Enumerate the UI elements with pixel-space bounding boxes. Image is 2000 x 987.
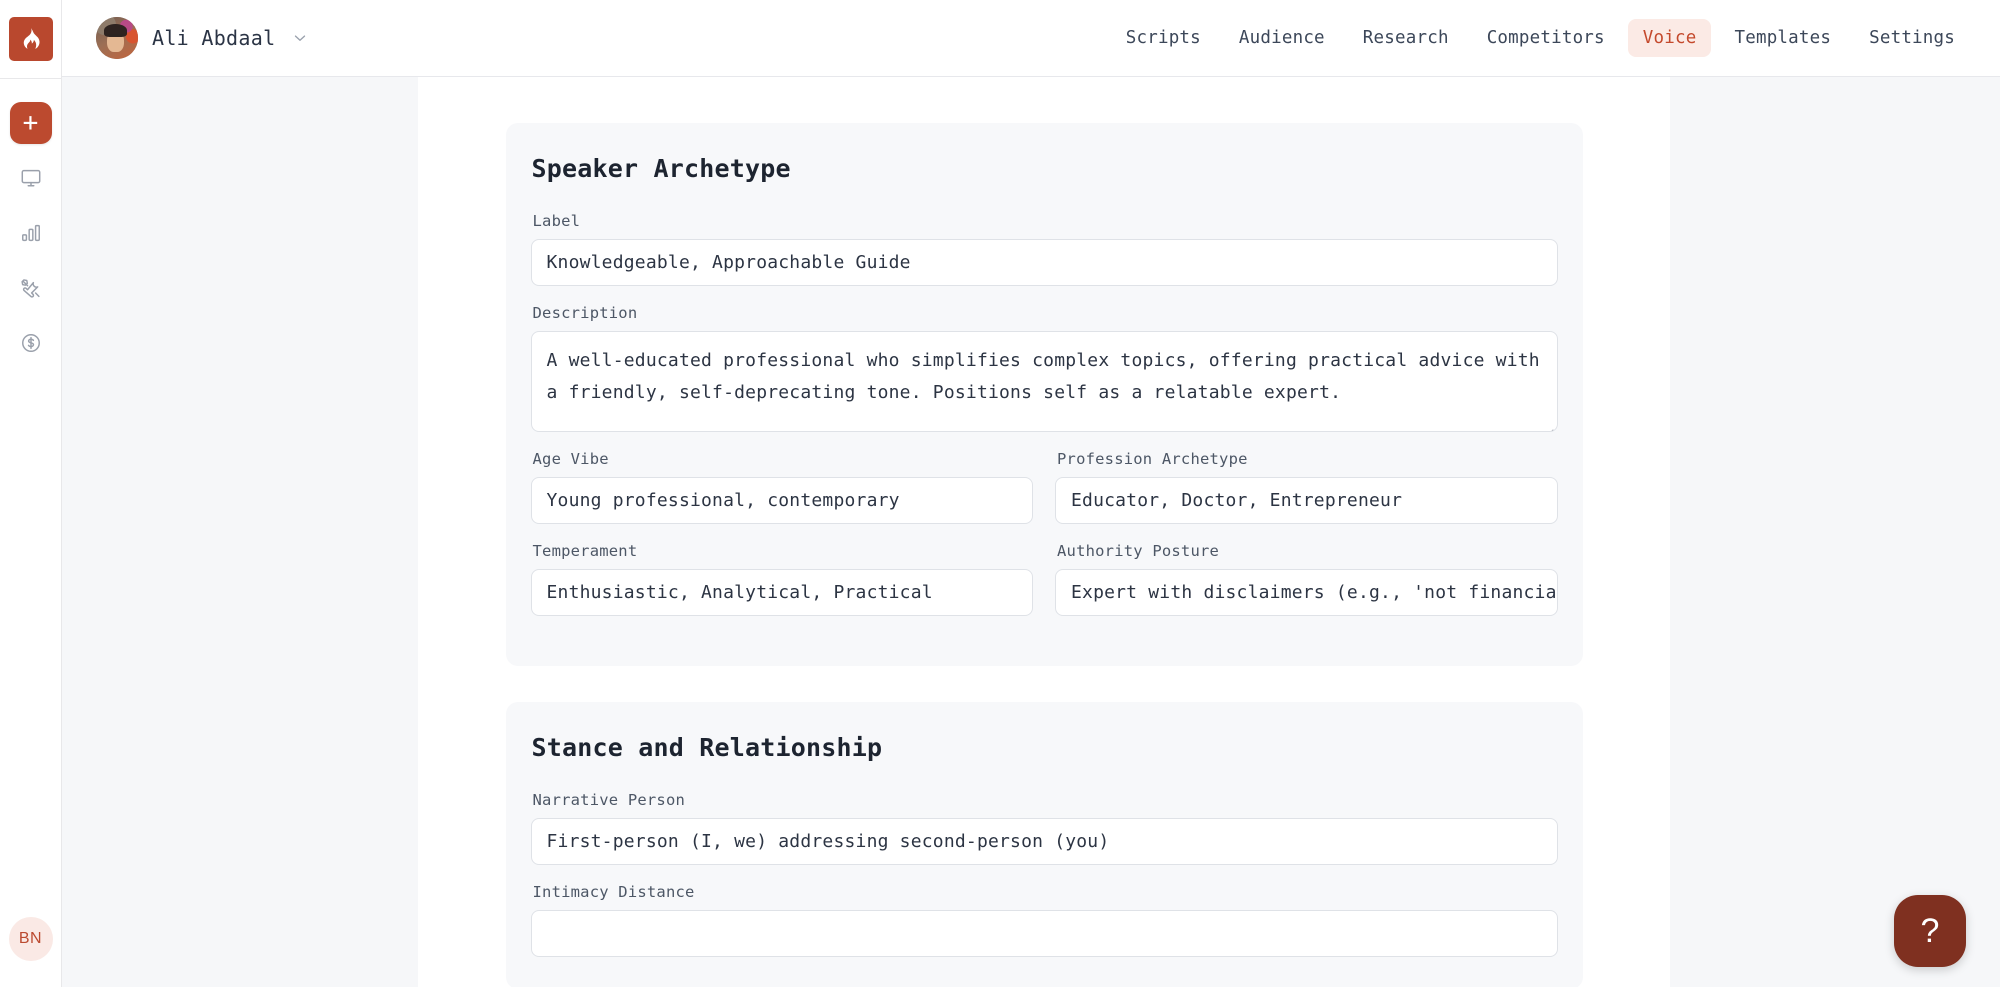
field-label-label: Label [531,212,1558,230]
field-narrative-person: Narrative Person First-person (I, we) ad… [531,791,1558,865]
narrative-person-input[interactable]: First-person (I, we) addressing second-p… [531,818,1558,865]
card-title-speaker-archetype: Speaker Archetype [531,154,1558,183]
rail-item-billing[interactable] [10,322,52,364]
workspace-switcher[interactable]: Ali Abdaal [96,17,309,59]
field-label-intimacy-distance: Intimacy Distance [531,883,1558,901]
field-label-description: Description [531,304,1558,322]
main-column: Ali Abdaal Scripts Audience Research Com… [62,0,2000,987]
workspace-name: Ali Abdaal [152,26,275,50]
field-age-vibe: Age Vibe Young professional, contemporar… [531,450,1034,524]
temperament-input[interactable]: Enthusiastic, Analytical, Practical [531,569,1034,616]
nav-item-scripts[interactable]: Scripts [1111,19,1216,57]
description-textarea-text: A well-educated professional who simplif… [547,350,1540,403]
rail-divider [0,78,61,79]
field-intimacy-distance: Intimacy Distance [531,883,1558,957]
voice-form-scroll[interactable]: Speaker Archetype Label Knowledgeable, A… [418,77,1670,987]
left-rail: + [0,0,62,987]
age-vibe-input[interactable]: Young professional, contemporary [531,477,1034,524]
help-button[interactable]: ? [1894,895,1966,967]
tools-icon [20,277,42,299]
intimacy-distance-input[interactable] [531,910,1558,957]
card-speaker-archetype: Speaker Archetype Label Knowledgeable, A… [506,123,1583,666]
label-input[interactable]: Knowledgeable, Approachable Guide [531,239,1558,286]
authority-posture-input[interactable]: Expert with disclaimers (e.g., 'not fina… [1055,569,1558,616]
monitor-icon [20,167,42,189]
user-avatar-initials[interactable]: BN [9,917,53,961]
workspace-avatar [96,17,138,59]
card-title-stance-and-relationship: Stance and Relationship [531,733,1558,762]
field-label-profession-archetype: Profession Archetype [1055,450,1558,468]
rail-item-tools[interactable] [10,267,52,309]
nav-item-research[interactable]: Research [1348,19,1464,57]
nav-item-audience[interactable]: Audience [1224,19,1340,57]
field-profession-archetype: Profession Archetype Educator, Doctor, E… [1055,450,1558,524]
nav-item-templates[interactable]: Templates [1719,19,1846,57]
row-age-profession: Age Vibe Young professional, contemporar… [531,450,1558,524]
field-label-age-vibe: Age Vibe [531,450,1034,468]
rail-item-analytics[interactable] [10,212,52,254]
field-label-temperament: Temperament [531,542,1034,560]
field-label: Label Knowledgeable, Approachable Guide [531,212,1558,286]
resize-handle-icon[interactable] [1542,417,1554,429]
top-header: Ali Abdaal Scripts Audience Research Com… [62,0,2000,77]
dollar-circle-icon [20,332,42,354]
field-authority-posture: Authority Posture Expert with disclaimer… [1055,542,1558,616]
rail-item-monitor[interactable] [10,157,52,199]
field-temperament: Temperament Enthusiastic, Analytical, Pr… [531,542,1034,616]
row-temperament-authority: Temperament Enthusiastic, Analytical, Pr… [531,542,1558,616]
nav-item-competitors[interactable]: Competitors [1472,19,1620,57]
new-item-button[interactable]: + [10,102,52,144]
page-canvas: Speaker Archetype Label Knowledgeable, A… [418,77,1670,987]
description-textarea[interactable]: A well-educated professional who simplif… [531,331,1558,432]
nav-item-voice[interactable]: Voice [1628,19,1712,57]
nav-item-settings[interactable]: Settings [1854,19,1970,57]
primary-nav: Scripts Audience Research Competitors Vo… [1111,19,1970,57]
card-stance-and-relationship: Stance and Relationship Narrative Person… [506,702,1583,987]
app-root: + [0,0,2000,987]
flame-logo-icon[interactable] [9,17,53,61]
bar-chart-icon [20,222,42,244]
field-label-authority-posture: Authority Posture [1055,542,1558,560]
field-description: Description A well-educated professional… [531,304,1558,432]
field-label-narrative-person: Narrative Person [531,791,1558,809]
question-mark-icon: ? [1921,912,1940,951]
chevron-down-icon [291,29,309,47]
profession-archetype-input[interactable]: Educator, Doctor, Entrepreneur [1055,477,1558,524]
body-area: Speaker Archetype Label Knowledgeable, A… [62,77,2000,987]
